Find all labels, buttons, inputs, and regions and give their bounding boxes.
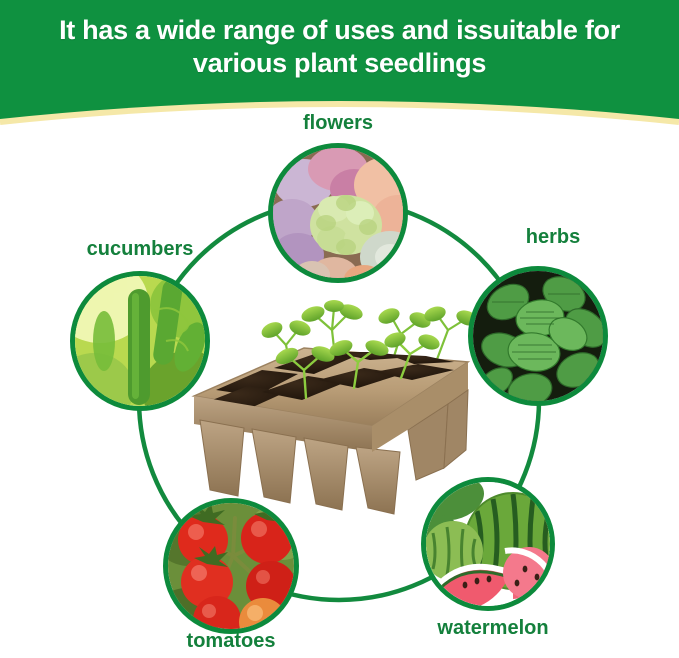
bubble-cucumbers xyxy=(70,271,210,411)
label-flowers: flowers xyxy=(268,112,408,135)
bubble-tomatoes xyxy=(163,498,299,634)
watermelon-image xyxy=(421,477,555,611)
label-watermelon: watermelon xyxy=(413,617,573,640)
label-cucumbers: cucumbers xyxy=(60,238,220,261)
bubble-herbs xyxy=(468,266,608,406)
flowers-succulents-image xyxy=(268,143,408,283)
label-herbs: herbs xyxy=(488,226,618,249)
label-tomatoes: tomatoes xyxy=(151,630,311,653)
bubble-watermelon xyxy=(421,477,555,611)
bubble-flowers xyxy=(268,143,408,283)
herbs-mint-image xyxy=(468,266,608,406)
infographic-page: It has a wide range of uses and issuitab… xyxy=(0,0,679,658)
cucumbers-vine-image xyxy=(70,271,210,411)
tomatoes-vine-image xyxy=(163,498,299,634)
